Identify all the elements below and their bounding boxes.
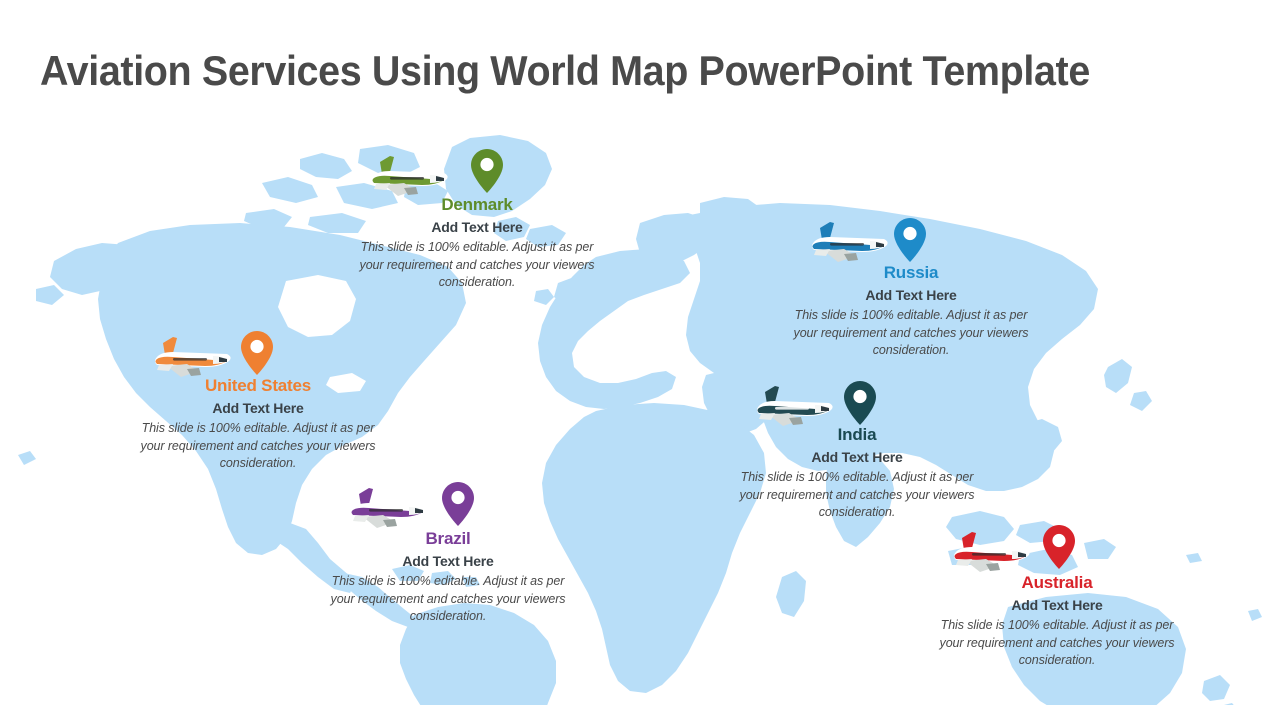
body-text-united-states: This slide is 100% editable. Adjust it a…: [133, 420, 383, 473]
add-text-india: Add Text Here: [732, 449, 982, 465]
body-text-india: This slide is 100% editable. Adjust it a…: [732, 469, 982, 522]
map-pin-icon-australia: [1042, 524, 1076, 570]
page-title: Aviation Services Using World Map PowerP…: [40, 48, 1090, 94]
map-pin-icon-russia: [893, 217, 927, 263]
map-pin-icon-brazil: [441, 481, 475, 527]
body-text-denmark: This slide is 100% editable. Adjust it a…: [352, 239, 602, 292]
country-label-australia: Australia: [932, 574, 1182, 593]
marker-group-india[interactable]: India Add Text Here This slide is 100% e…: [732, 378, 992, 528]
callout-australia: Australia Add Text Here This slide is 10…: [932, 574, 1182, 670]
marker-group-brazil[interactable]: Brazil Add Text Here This slide is 100% …: [323, 482, 583, 632]
country-label-brazil: Brazil: [323, 530, 573, 549]
marker-group-russia[interactable]: Russia Add Text Here This slide is 100% …: [786, 214, 1046, 364]
add-text-denmark: Add Text Here: [352, 219, 602, 235]
country-label-denmark: Denmark: [352, 196, 602, 215]
add-text-australia: Add Text Here: [932, 597, 1182, 613]
callout-united-states: United States Add Text Here This slide i…: [133, 377, 383, 473]
marker-group-australia[interactable]: Australia Add Text Here This slide is 10…: [932, 522, 1192, 674]
country-label-russia: Russia: [786, 264, 1036, 283]
callout-india: India Add Text Here This slide is 100% e…: [732, 426, 982, 522]
map-pin-icon-india: [843, 380, 877, 426]
add-text-united-states: Add Text Here: [133, 400, 383, 416]
add-text-brazil: Add Text Here: [323, 553, 573, 569]
body-text-brazil: This slide is 100% editable. Adjust it a…: [323, 573, 573, 626]
country-label-india: India: [732, 426, 982, 445]
marker-group-denmark[interactable]: Denmark Add Text Here This slide is 100%…: [352, 152, 612, 302]
slide-canvas: Aviation Services Using World Map PowerP…: [0, 0, 1280, 720]
map-pin-icon-denmark: [470, 148, 504, 194]
body-text-russia: This slide is 100% editable. Adjust it a…: [786, 307, 1036, 360]
callout-brazil: Brazil Add Text Here This slide is 100% …: [323, 530, 573, 626]
marker-group-united-states[interactable]: United States Add Text Here This slide i…: [133, 325, 393, 480]
add-text-russia: Add Text Here: [786, 287, 1036, 303]
map-pin-icon-united-states: [240, 330, 274, 376]
country-label-united-states: United States: [133, 377, 383, 396]
callout-russia: Russia Add Text Here This slide is 100% …: [786, 264, 1036, 360]
body-text-australia: This slide is 100% editable. Adjust it a…: [932, 617, 1182, 670]
callout-denmark: Denmark Add Text Here This slide is 100%…: [352, 196, 602, 292]
